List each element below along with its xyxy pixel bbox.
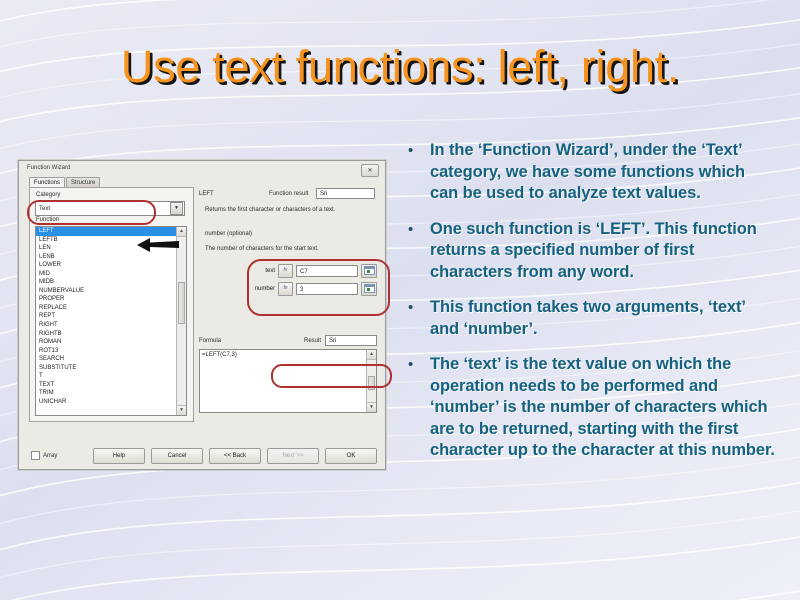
- list-item[interactable]: UNICHAR: [36, 398, 176, 407]
- formula-input[interactable]: =LEFT(C7,3): [200, 350, 366, 412]
- argument-input-text[interactable]: C7: [296, 265, 358, 277]
- cancel-button[interactable]: Cancel: [151, 448, 203, 464]
- list-item[interactable]: REPT: [36, 312, 176, 321]
- list-item[interactable]: TEXT: [36, 381, 176, 390]
- list-item: • The ‘text’ is the text value on which …: [405, 354, 777, 462]
- list-item[interactable]: NUMBERVALUE: [36, 287, 176, 296]
- argument-row-text: text fx C7: [249, 263, 377, 278]
- selected-function-name: LEFT: [199, 191, 214, 197]
- list-scrollbar[interactable]: ▲ ▼: [176, 227, 186, 415]
- category-value: Text: [36, 206, 170, 212]
- list-item[interactable]: LOWER: [36, 261, 176, 270]
- argument-fields: text fx C7 number fx 3: [249, 263, 377, 299]
- function-wizard-screenshot: Function Wizard ✕ Functions Structure Ca…: [18, 160, 386, 470]
- result-field: Sri: [325, 335, 377, 346]
- back-button[interactable]: << Back: [209, 448, 261, 464]
- scroll-up-icon[interactable]: ▲: [367, 350, 376, 360]
- function-result-label: Function result: [269, 191, 308, 197]
- next-button: Next >>: [267, 448, 319, 464]
- function-result-field: Sri: [316, 188, 375, 199]
- result-label: Result: [304, 338, 321, 344]
- bullet-marker-icon: •: [405, 219, 430, 241]
- fx-icon[interactable]: fx: [278, 282, 293, 296]
- scroll-down-icon[interactable]: ▼: [177, 405, 186, 415]
- bullet-marker-icon: •: [405, 297, 430, 319]
- formula-scrollbar[interactable]: ▲ ▼: [366, 350, 376, 412]
- help-button[interactable]: Help: [93, 448, 145, 464]
- shrink-range-icon[interactable]: [361, 282, 377, 296]
- annotation-pointer-arrow-icon: [137, 235, 179, 255]
- list-item: • This function takes two arguments, ‘te…: [405, 297, 777, 340]
- list-item: • One such function is ‘LEFT’. This func…: [405, 219, 777, 284]
- dialog-button-row: Help Cancel << Back Next >> OK: [93, 448, 377, 464]
- argument-input-number[interactable]: 3: [296, 283, 358, 295]
- scrollbar-thumb[interactable]: [368, 376, 375, 390]
- page-title: Use text functions: left, right.: [0, 42, 800, 92]
- list-item[interactable]: TRIM: [36, 389, 176, 398]
- functions-panel: Category Text ▼ Function LEFT LEFTB LEN …: [29, 187, 194, 422]
- argument-label: text: [249, 268, 278, 274]
- bullet-marker-icon: •: [405, 140, 430, 162]
- argument-label: number: [249, 286, 278, 292]
- category-dropdown[interactable]: Text ▼: [35, 201, 185, 216]
- shrink-range-icon[interactable]: [361, 264, 377, 278]
- list-item[interactable]: T: [36, 372, 176, 381]
- list-item[interactable]: PROPER: [36, 295, 176, 304]
- list-item[interactable]: SEARCH: [36, 355, 176, 364]
- list-item: • In the ‘Function Wizard’, under the ‘T…: [405, 140, 777, 205]
- list-item[interactable]: MIDB: [36, 278, 176, 287]
- list-item[interactable]: ROMAN: [36, 338, 176, 347]
- list-item[interactable]: REPLACE: [36, 304, 176, 313]
- argument-row-number: number fx 3: [249, 281, 377, 296]
- formula-label: Formula: [199, 338, 221, 344]
- bullet-marker-icon: •: [405, 354, 430, 376]
- bullet-text: The ‘text’ is the text value on which th…: [430, 354, 777, 462]
- list-item[interactable]: RIGHT: [36, 321, 176, 330]
- argument-description: The number of characters for the start t…: [205, 246, 377, 252]
- bullet-list: • In the ‘Function Wizard’, under the ‘T…: [405, 140, 777, 476]
- function-list: LEFT LEFTB LEN LENB LOWER MID MIDB NUMBE…: [36, 227, 176, 415]
- list-item[interactable]: ROT13: [36, 347, 176, 356]
- function-label: Function: [36, 217, 59, 223]
- bullet-text: One such function is ‘LEFT’. This functi…: [430, 219, 777, 284]
- checkbox-icon[interactable]: [31, 451, 40, 460]
- array-label: Array: [43, 453, 57, 459]
- list-item[interactable]: RIGHTB: [36, 330, 176, 339]
- formula-box[interactable]: =LEFT(C7,3) ▲ ▼: [199, 349, 377, 413]
- array-checkbox[interactable]: Array: [31, 451, 57, 460]
- ok-button[interactable]: OK: [325, 448, 377, 464]
- bullet-text: In the ‘Function Wizard’, under the ‘Tex…: [430, 140, 777, 205]
- chevron-down-icon[interactable]: ▼: [170, 202, 183, 215]
- list-item[interactable]: SUBSTITUTE: [36, 364, 176, 373]
- slide-canvas: Use text functions: left, right. • In th…: [0, 0, 800, 600]
- scrollbar-thumb[interactable]: [178, 282, 185, 324]
- function-detail-panel: LEFT Function result Sri Returns the fir…: [197, 187, 377, 420]
- scroll-down-icon[interactable]: ▼: [367, 402, 376, 412]
- close-icon[interactable]: ✕: [361, 164, 379, 177]
- fx-icon[interactable]: fx: [278, 264, 293, 278]
- function-description: Returns the first character or character…: [205, 207, 377, 213]
- category-label: Category: [36, 192, 60, 198]
- bullet-text: This function takes two arguments, ‘text…: [430, 297, 777, 340]
- dialog-title: Function Wizard: [27, 165, 70, 171]
- list-item[interactable]: MID: [36, 270, 176, 279]
- argument-name: number (optional): [205, 231, 252, 237]
